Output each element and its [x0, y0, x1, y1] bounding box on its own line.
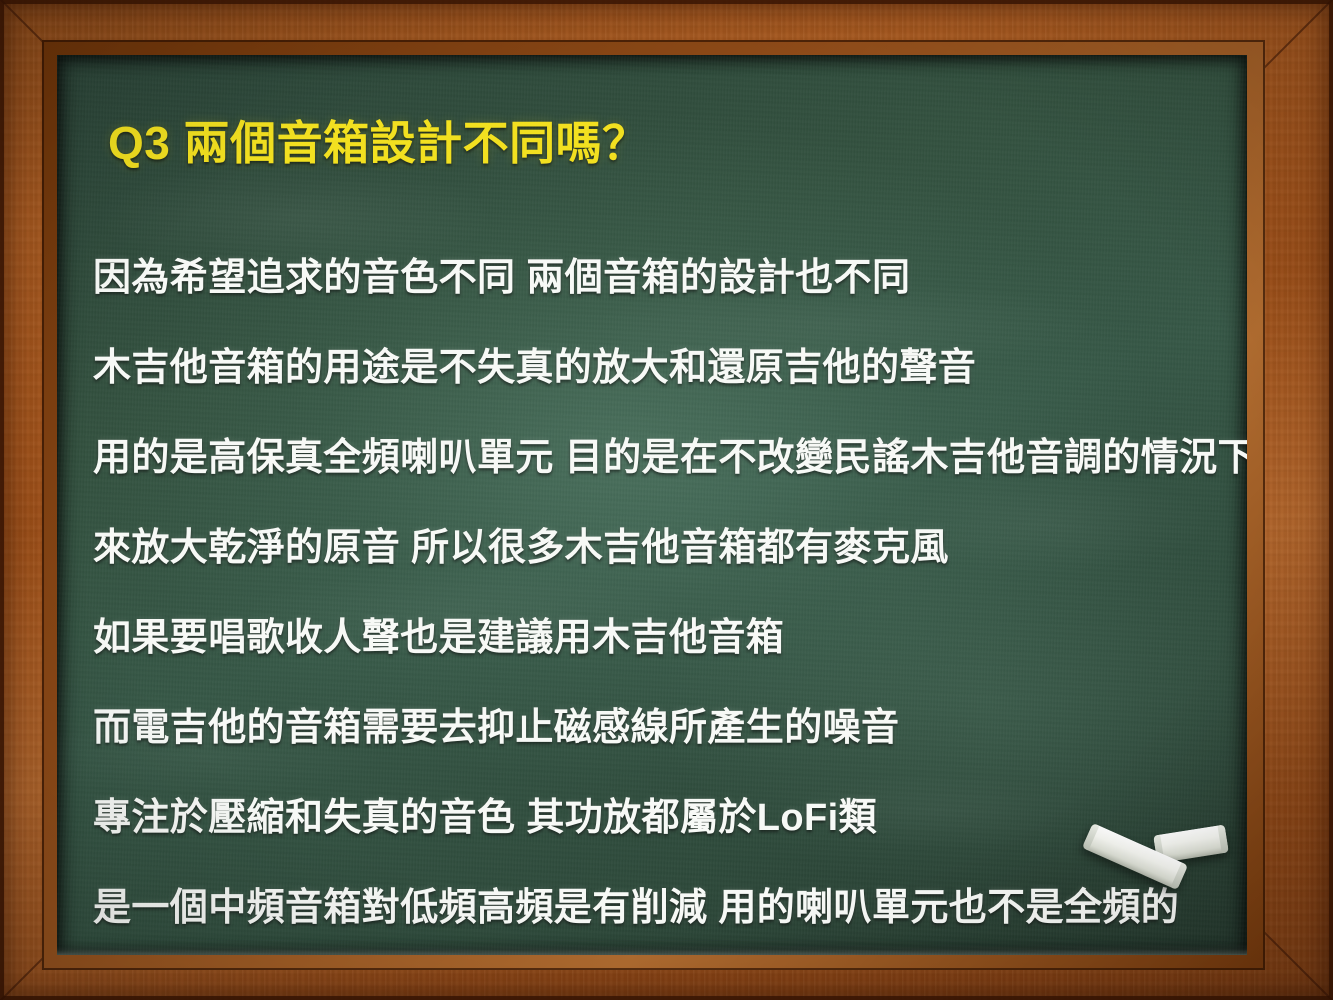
- body-line-1: 因為希望追求的音色不同 兩個音箱的設計也不同: [93, 233, 1237, 323]
- slide-content: Q3 兩個音箱設計不同嗎？ 因為希望追求的音色不同 兩個音箱的設計也不同 木吉他…: [93, 105, 1237, 955]
- chalkboard-slide: Q3 兩個音箱設計不同嗎？ 因為希望追求的音色不同 兩個音箱的設計也不同 木吉他…: [0, 0, 1333, 1000]
- body-line-3: 用的是高保真全頻喇叭單元 目的是在不改變民謠木吉他音調的情況下: [93, 413, 1237, 503]
- chalk-tip-right: [1217, 825, 1228, 854]
- body-line-8: 是一個中頻音箱對低頻高頻是有削減 用的喇叭單元也不是全頻的: [93, 863, 1237, 953]
- chalk-tip-left: [1082, 823, 1099, 851]
- page-title: Q3 兩個音箱設計不同嗎？: [108, 119, 649, 167]
- body-line-4: 來放大乾淨的原音 所以很多木吉他音箱都有麥克風: [93, 503, 1237, 593]
- body-line-7: 專注於壓縮和失真的音色 其功放都屬於LoFi類: [93, 773, 1237, 863]
- body-line-5: 如果要唱歌收人聲也是建議用木吉他音箱: [93, 593, 1237, 683]
- chalkboard-surface: Q3 兩個音箱設計不同嗎？ 因為希望追求的音色不同 兩個音箱的設計也不同 木吉他…: [57, 55, 1247, 955]
- body-text-block: 因為希望追求的音色不同 兩個音箱的設計也不同 木吉他音箱的用途是不失真的放大和還…: [93, 233, 1237, 953]
- chalk-sticks: [1077, 825, 1247, 915]
- body-line-6: 而電吉他的音箱需要去抑止磁感線所產生的噪音: [93, 683, 1237, 773]
- chalk-tip-right: [1171, 862, 1188, 890]
- body-line-2: 木吉他音箱的用途是不失真的放大和還原吉他的聲音: [93, 323, 1237, 413]
